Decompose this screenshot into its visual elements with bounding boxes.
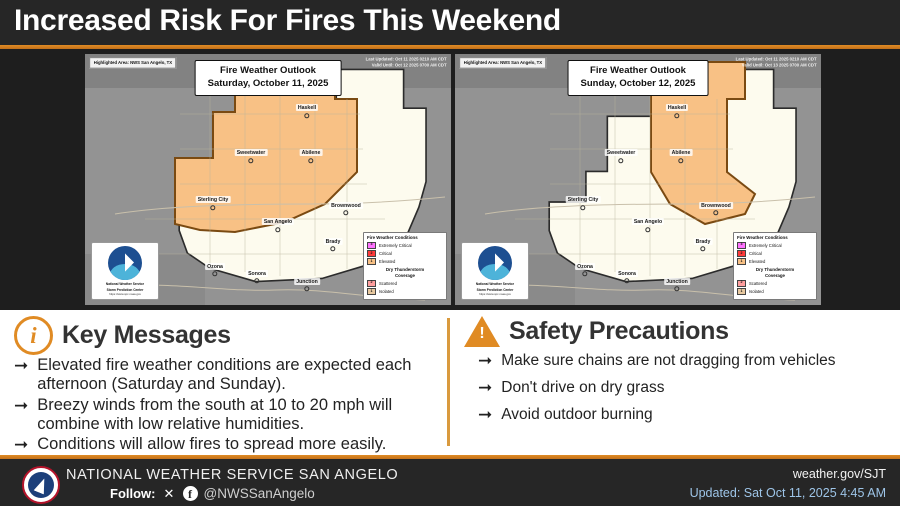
city-label: Ozona xyxy=(205,263,225,270)
city-label: Brownwood xyxy=(699,202,733,209)
legend-sub-line2: Coverage xyxy=(737,273,813,279)
follow-label: Follow: xyxy=(110,486,156,501)
legend-row: 3 Extremely Critical xyxy=(367,242,443,249)
map-sunday[interactable]: Highlighted Area: NWS San Angelo, TX Las… xyxy=(455,54,821,305)
arrow-icon: ➞ xyxy=(14,356,28,376)
safety-precautions-panel: Safety Precautions ➞ Make sure chains ar… xyxy=(450,310,900,432)
city-label: San Angelo xyxy=(262,218,294,225)
legend-row: 2 Critical xyxy=(367,250,443,257)
city-label: Sweetwater xyxy=(605,149,638,156)
highlighted-area-label: Highlighted Area: NWS San Angelo, TX xyxy=(89,57,177,69)
map-title-line1: Fire Weather Outlook xyxy=(581,65,696,78)
noaa-badge: National Weather Service Storm Predictio… xyxy=(461,242,529,301)
safety-precautions-title: Safety Precautions xyxy=(509,317,729,346)
weather-graphic: Increased Risk For Fires This Weekend xyxy=(0,0,900,506)
legend-row: 2 Scattered xyxy=(367,280,443,287)
info-circle-icon: i xyxy=(14,316,53,355)
bullet-text: Make sure chains are not dragging from v… xyxy=(501,351,835,371)
legend-label: Isolated xyxy=(749,289,764,294)
city-label: Brady xyxy=(694,238,713,245)
city-label: San Angelo xyxy=(632,218,664,225)
list-item: ➞ Elevated fire weather conditions are e… xyxy=(14,356,437,395)
noaa-logo-icon xyxy=(478,246,512,280)
legend-sub-line2: Coverage xyxy=(367,273,443,279)
key-messages-title: Key Messages xyxy=(62,321,231,350)
map-title-box: Fire Weather Outlook Sunday, October 12,… xyxy=(568,60,709,96)
city-label: Brady xyxy=(324,238,343,245)
page-title: Increased Risk For Fires This Weekend xyxy=(14,4,561,38)
map-title-line2: Saturday, October 11, 2025 xyxy=(208,78,329,91)
legend-label: Isolated xyxy=(379,289,394,294)
legend-saturday: Fire Weather Conditions 3 Extremely Crit… xyxy=(363,232,447,300)
city-label: Abilene xyxy=(670,149,693,156)
legend-swatch: 2 xyxy=(367,280,376,287)
website-url[interactable]: weather.gov/SJT xyxy=(793,467,886,481)
arrow-icon: ➞ xyxy=(14,435,28,455)
legend-row: 1 Elevated xyxy=(367,258,443,265)
facebook-icon[interactable]: f xyxy=(183,486,198,501)
bullet-text: Conditions will allow fires to spread mo… xyxy=(37,435,386,454)
key-messages-panel: i Key Messages ➞ Elevated fire weather c… xyxy=(0,310,447,456)
updated-timestamp: Updated: Sat Oct 11, 2025 4:45 AM xyxy=(690,486,886,500)
legend-row: 1 Isolated xyxy=(737,288,813,295)
arrow-icon: ➞ xyxy=(478,351,492,371)
legend-label: Elevated xyxy=(379,259,395,264)
map-title-box: Fire Weather Outlook Saturday, October 1… xyxy=(195,60,342,96)
city-label: Sonora xyxy=(246,270,268,277)
city-label: Haskell xyxy=(296,104,318,111)
legend-label: Elevated xyxy=(749,259,765,264)
legend-row: 3 Extremely Critical xyxy=(737,242,813,249)
legend-label: Scattered xyxy=(749,281,767,286)
x-twitter-icon[interactable]: ✕ xyxy=(162,486,177,501)
arrow-icon: ➞ xyxy=(478,378,492,398)
legend-row: 1 Isolated xyxy=(367,288,443,295)
list-item: ➞ Don't drive on dry grass xyxy=(478,378,890,398)
info-band: i Key Messages ➞ Elevated fire weather c… xyxy=(0,310,900,455)
legend-label: Critical xyxy=(749,251,762,256)
map-title-line1: Fire Weather Outlook xyxy=(208,65,329,78)
arrow-icon: ➞ xyxy=(14,396,28,416)
map-title-line2: Sunday, October 12, 2025 xyxy=(581,78,696,91)
safety-precautions-list: ➞ Make sure chains are not dragging from… xyxy=(450,347,900,425)
legend-subheading: Dry Thunderstorm Coverage xyxy=(367,267,443,278)
city-label: Abilene xyxy=(300,149,323,156)
noaa-logo-icon xyxy=(108,246,142,280)
valid-until-text: Valid Until: Oct 13 2025 0700 AM CDT xyxy=(736,63,817,69)
header-bar: Increased Risk For Fires This Weekend xyxy=(0,0,900,45)
safety-precautions-header: Safety Precautions xyxy=(450,310,900,347)
timestamp-block: Last Updated: Oct 11 2025 0210 AM CDT Va… xyxy=(366,57,447,69)
key-messages-header: i Key Messages xyxy=(0,310,447,355)
noaa-line1: National Weather Service xyxy=(464,282,526,287)
legend-swatch: 1 xyxy=(737,258,746,265)
city-label: Junction xyxy=(294,278,320,285)
noaa-url: https://www.spc.noaa.gov xyxy=(94,293,156,297)
list-item: ➞ Make sure chains are not dragging from… xyxy=(478,351,890,371)
legend-label: Extremely Critical xyxy=(379,243,412,248)
bullet-text: Breezy winds from the south at 10 to 20 … xyxy=(37,396,437,435)
social-handle[interactable]: @NWSSanAngelo xyxy=(204,486,315,501)
legend-row: 1 Elevated xyxy=(737,258,813,265)
legend-heading: Fire Weather Conditions xyxy=(367,235,443,240)
key-messages-list: ➞ Elevated fire weather conditions are e… xyxy=(0,355,447,455)
legend-row: 2 Critical xyxy=(737,250,813,257)
noaa-url: https://www.spc.noaa.gov xyxy=(464,293,526,297)
map-saturday[interactable]: Highlighted Area: NWS San Angelo, TX Las… xyxy=(85,54,451,305)
arrow-icon: ➞ xyxy=(478,405,492,425)
social-follow: Follow: ✕ f @NWSSanAngelo xyxy=(110,486,315,501)
noaa-badge: National Weather Service Storm Predictio… xyxy=(91,242,159,301)
legend-swatch: 2 xyxy=(737,280,746,287)
warning-triangle-icon xyxy=(464,316,500,347)
nws-seal-icon xyxy=(22,466,60,504)
legend-subheading: Dry Thunderstorm Coverage xyxy=(737,267,813,278)
legend-swatch: 2 xyxy=(737,250,746,257)
city-label: Brownwood xyxy=(329,202,363,209)
city-label: Sonora xyxy=(616,270,638,277)
city-label: Ozona xyxy=(575,263,595,270)
legend-heading: Fire Weather Conditions xyxy=(737,235,813,240)
footer-bar: NATIONAL WEATHER SERVICE SAN ANGELO Foll… xyxy=(0,459,900,506)
legend-swatch: 3 xyxy=(737,242,746,249)
bullet-text: Don't drive on dry grass xyxy=(501,378,664,398)
legend-swatch: 3 xyxy=(367,242,376,249)
legend-label: Critical xyxy=(379,251,392,256)
bullet-text: Avoid outdoor burning xyxy=(501,405,652,425)
highlighted-area-label: Highlighted Area: NWS San Angelo, TX xyxy=(459,57,547,69)
noaa-line1: National Weather Service xyxy=(94,282,156,287)
legend-sunday: Fire Weather Conditions 3 Extremely Crit… xyxy=(733,232,817,300)
list-item: ➞ Conditions will allow fires to spread … xyxy=(14,435,437,455)
list-item: ➞ Avoid outdoor burning xyxy=(478,405,890,425)
city-label: Sweetwater xyxy=(235,149,268,156)
legend-swatch: 1 xyxy=(367,258,376,265)
bullet-text: Elevated fire weather conditions are exp… xyxy=(37,356,437,395)
legend-swatch: 1 xyxy=(737,288,746,295)
list-item: ➞ Breezy winds from the south at 10 to 2… xyxy=(14,396,437,435)
legend-swatch: 1 xyxy=(367,288,376,295)
legend-swatch: 2 xyxy=(367,250,376,257)
valid-until-text: Valid Until: Oct 12 2025 0700 AM CDT xyxy=(366,63,447,69)
office-name: NATIONAL WEATHER SERVICE SAN ANGELO xyxy=(66,467,398,483)
maps-band: Highlighted Area: NWS San Angelo, TX Las… xyxy=(0,49,900,310)
legend-label: Scattered xyxy=(379,281,397,286)
city-label: Sterling City xyxy=(196,196,231,203)
legend-label: Extremely Critical xyxy=(749,243,782,248)
city-label: Junction xyxy=(664,278,690,285)
city-label: Sterling City xyxy=(566,196,601,203)
timestamp-block: Last Updated: Oct 11 2025 0210 AM CDT Va… xyxy=(736,57,817,69)
city-label: Haskell xyxy=(666,104,688,111)
legend-row: 2 Scattered xyxy=(737,280,813,287)
